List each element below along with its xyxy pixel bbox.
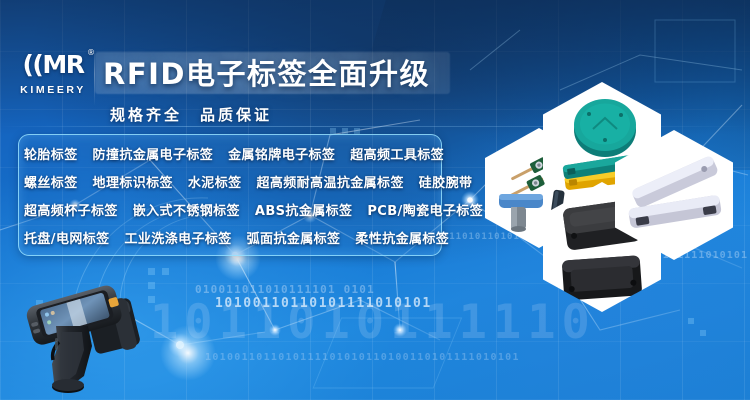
product-tag: ABS抗金属标签	[255, 204, 353, 219]
product-tag: 超高频杯子标签	[24, 204, 118, 219]
product-tag: 超高频工具标签	[350, 148, 444, 163]
logo-mark-text: ((MR	[23, 50, 84, 79]
binary-text-mid: 10100110110101111010101	[215, 296, 750, 311]
blue-anti-metal-tag	[499, 194, 543, 232]
product-tag: 超高频耐高温抗金属标签	[256, 176, 403, 191]
product-tag: 轮胎标签	[24, 148, 78, 163]
logo-wordmark: ((MR ®	[14, 52, 92, 77]
product-showcase	[455, 78, 750, 288]
glow-node-1	[160, 325, 216, 381]
page-subtitle: 规格齐全 品质保证	[110, 104, 272, 125]
product-row-4: 托盘/电网标签 工业洗涤电子标签 弧面抗金属标签 柔性抗金属标签	[19, 226, 441, 254]
product-tag: 嵌入式不锈钢标签	[133, 204, 240, 219]
product-row-2: 螺丝标签 地理标识标签 水泥标签 超高频耐高温抗金属标签 硅胶腕带	[19, 170, 441, 198]
product-tag: 水泥标签	[188, 176, 242, 191]
teal-disc-tag	[574, 99, 636, 157]
rfid-product-banner: 1011010111110 10100110110101111010101 01…	[0, 0, 750, 400]
binary-text-small-1: 010011011010111101 0101	[195, 283, 375, 296]
product-tag: 地理标识标签	[93, 176, 173, 191]
product-tag: 金属铭牌电子标签	[228, 148, 335, 163]
brand-logo: ((MR ® KIMEERY	[14, 52, 92, 96]
company-name: KIMEERY	[14, 84, 92, 96]
reader-grip	[52, 326, 92, 393]
product-list-panel: 轮胎标签 防撞抗金属电子标签 金属铭牌电子标签 超高频工具标签 螺丝标签 地理标…	[18, 134, 442, 256]
binary-text-small-3: 1010011011010111101010110100110101111010…	[205, 352, 520, 363]
handheld-rfid-reader	[18, 272, 168, 396]
product-tag: 螺丝标签	[24, 176, 78, 191]
binary-text-large: 1011010111110	[150, 295, 750, 350]
dark-abs-tag-bottom	[562, 255, 643, 300]
reader-graphic	[18, 272, 168, 396]
product-tag: 柔性抗金属标签	[355, 232, 449, 247]
product-tag: 防撞抗金属电子标签	[93, 148, 214, 163]
product-tag: 工业洗涤电子标签	[125, 232, 232, 247]
product-tag: 托盘/电网标签	[24, 232, 110, 247]
page-title: RFID电子标签全面升级	[103, 53, 430, 95]
product-tag: 弧面抗金属标签	[247, 232, 341, 247]
product-row-3: 超高频杯子标签 嵌入式不锈钢标签 ABS抗金属标签 PCB/陶瓷电子标签	[19, 198, 441, 226]
product-row-1: 轮胎标签 防撞抗金属电子标签 金属铭牌电子标签 超高频工具标签	[19, 142, 441, 170]
